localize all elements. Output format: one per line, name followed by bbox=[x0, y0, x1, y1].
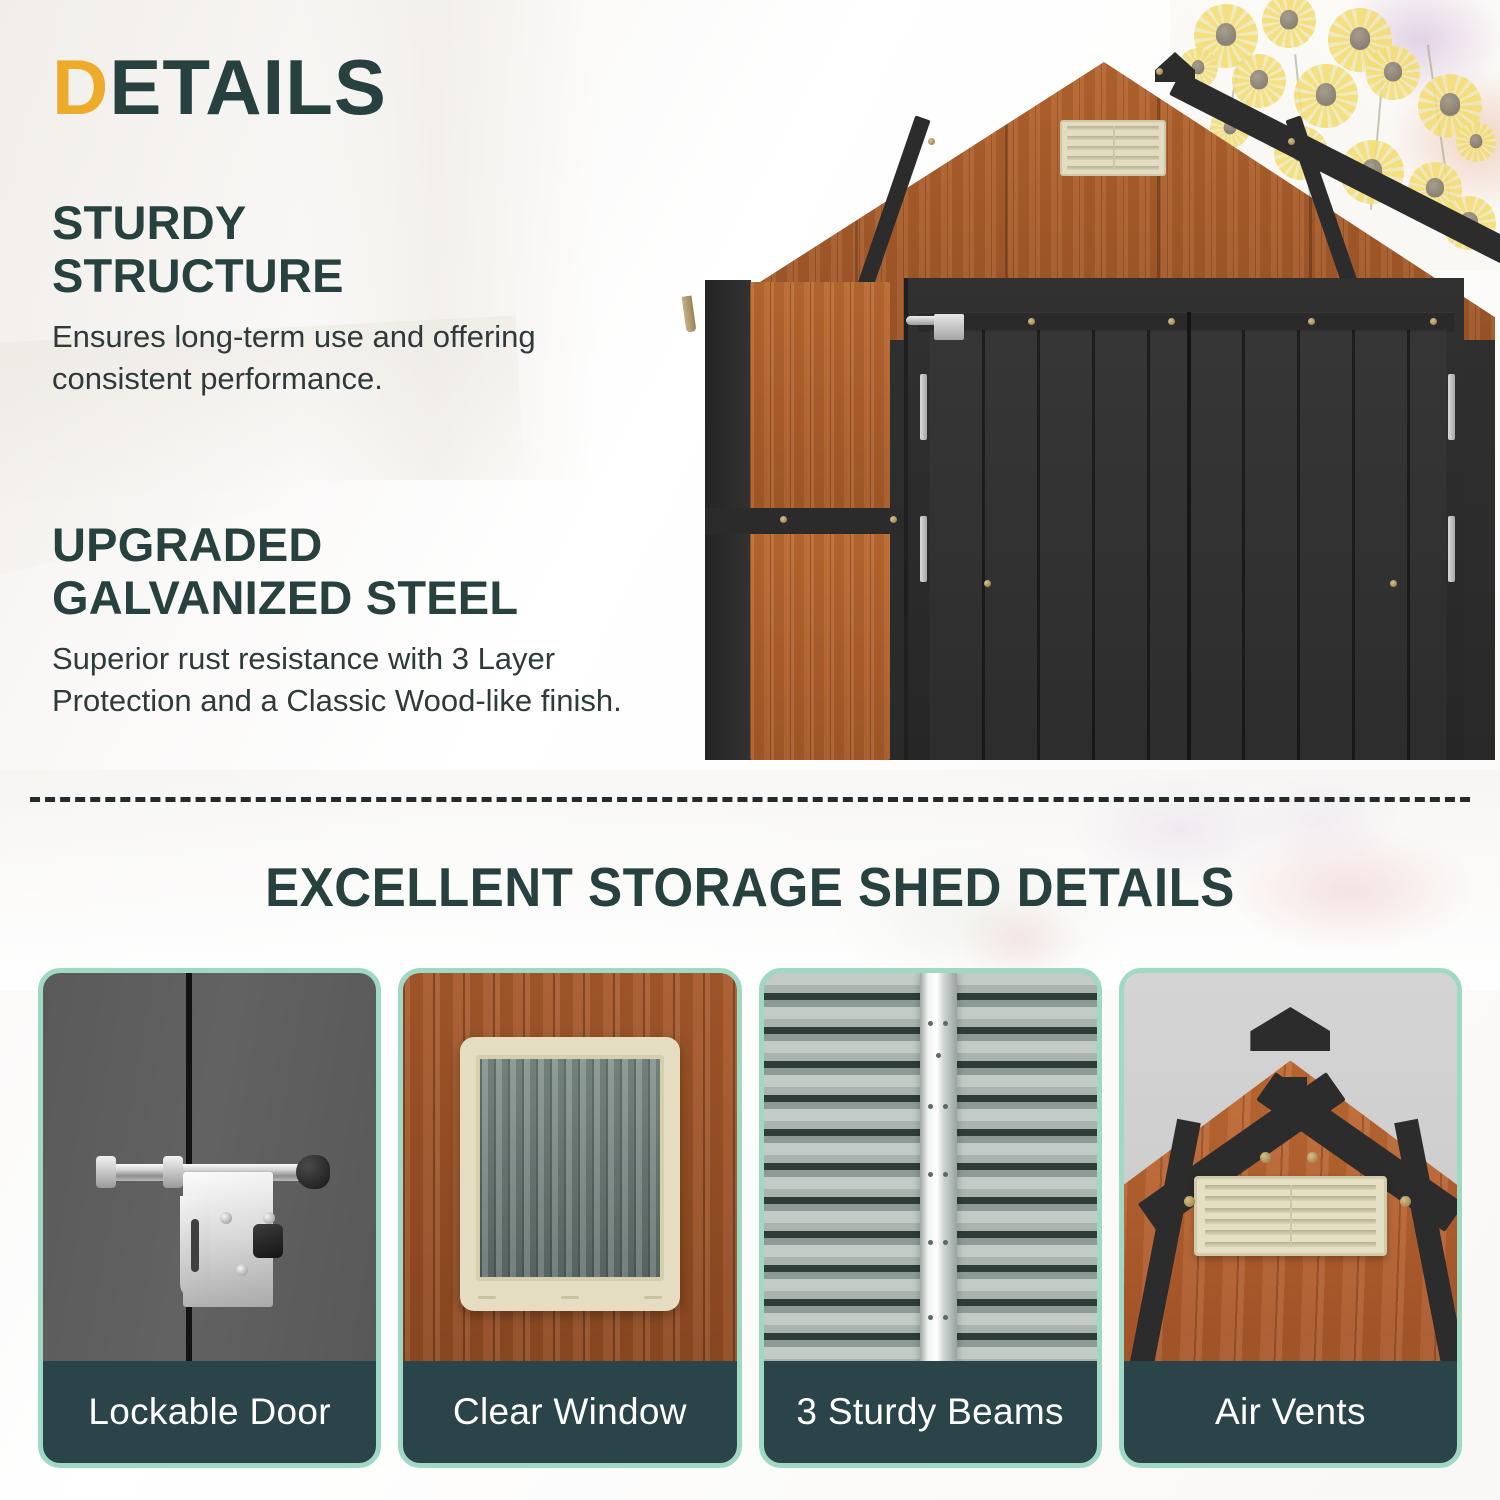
feature-heading: STURDYSTRUCTURE bbox=[52, 196, 672, 302]
brace-bolt-icon bbox=[1156, 68, 1163, 75]
latch-stop-tab bbox=[253, 1224, 283, 1258]
roof-peak-cap bbox=[1155, 52, 1195, 82]
feature-body: Superior rust resistance with 3 Layer Pr… bbox=[52, 638, 672, 722]
rivet-icon bbox=[936, 1053, 941, 1058]
rivet-icon bbox=[943, 1240, 948, 1245]
window-icon bbox=[460, 1037, 680, 1312]
detail-card-lockable-door[interactable]: Lockable Door bbox=[38, 968, 381, 1468]
section-heading: EXCELLENT STORAGE SHED DETAILS bbox=[53, 855, 1448, 919]
card-photo bbox=[403, 973, 736, 1371]
screw-icon bbox=[263, 1212, 275, 1224]
feature-block-galvanized-steel: UPGRADEDGALVANIZED STEEL Superior rust r… bbox=[52, 518, 672, 723]
beam-icon bbox=[920, 973, 957, 1371]
door-slide-bolt-latch-icon[interactable] bbox=[906, 310, 966, 340]
shed-side-wood-panel-lower bbox=[750, 530, 890, 760]
crossbar-bolt-icon bbox=[780, 516, 787, 523]
door-center-seam bbox=[1187, 312, 1191, 760]
card-caption: 3 Sturdy Beams bbox=[764, 1361, 1097, 1463]
door-rivet-icon bbox=[1308, 318, 1315, 325]
eave-bracket-icon bbox=[682, 295, 697, 332]
page-title-rest: ETAILS bbox=[109, 43, 387, 131]
door-right-panel[interactable] bbox=[1190, 330, 1446, 760]
door-hinge-icon bbox=[920, 374, 927, 440]
page-title-accent-letter: D bbox=[52, 43, 109, 131]
card-photo bbox=[43, 973, 376, 1371]
rivet-icon bbox=[928, 1240, 933, 1245]
vent-center-seam bbox=[1290, 1185, 1292, 1247]
section-divider bbox=[30, 797, 1470, 802]
rivet-icon bbox=[928, 1315, 933, 1320]
latch-collar bbox=[96, 1156, 116, 1188]
card-caption: Air Vents bbox=[1124, 1361, 1457, 1463]
door-rivet-icon bbox=[1168, 318, 1175, 325]
card-caption: Clear Window bbox=[403, 1361, 736, 1463]
brace-bolt-icon bbox=[928, 138, 935, 145]
rivet-icon bbox=[928, 1172, 933, 1177]
louver-vent-icon bbox=[1194, 1176, 1387, 1256]
latch-collar bbox=[163, 1156, 183, 1188]
window-sill-mark bbox=[644, 1296, 662, 1299]
padlock-hasp-icon bbox=[180, 1196, 210, 1299]
detail-card-sturdy-beams[interactable]: 3 Sturdy Beams bbox=[759, 968, 1102, 1468]
detail-card-clear-window[interactable]: Clear Window bbox=[398, 968, 741, 1468]
padlock-slot bbox=[191, 1219, 199, 1273]
rivet-icon bbox=[928, 1021, 933, 1026]
screw-icon bbox=[236, 1264, 248, 1276]
screw-icon bbox=[220, 1212, 232, 1224]
crossbar-bolt-icon bbox=[890, 516, 897, 523]
rivet-icon bbox=[943, 1315, 948, 1320]
rivet-icon bbox=[928, 1104, 933, 1109]
feature-heading: UPGRADEDGALVANIZED STEEL bbox=[52, 518, 672, 624]
rivet-icon bbox=[943, 1021, 948, 1026]
screw-icon bbox=[1184, 1196, 1195, 1207]
window-sill-mark bbox=[478, 1296, 496, 1299]
card-photo bbox=[1124, 973, 1457, 1371]
latch-plate bbox=[934, 314, 964, 340]
window-glass-panel bbox=[476, 1055, 664, 1282]
feature-heading-line2: STRUCTURE bbox=[52, 249, 344, 302]
feature-heading-line2: GALVANIZED STEEL bbox=[52, 571, 518, 624]
page-title: DETAILS bbox=[52, 48, 387, 126]
vent-center-seam bbox=[1113, 126, 1115, 170]
detail-cards-row: Lockable Door Clear Window bbox=[38, 968, 1462, 1468]
door-hinge-icon bbox=[1448, 374, 1455, 440]
rivet-icon bbox=[943, 1172, 948, 1177]
brace-bolt-icon bbox=[1288, 138, 1295, 145]
latch-knob-icon bbox=[296, 1155, 330, 1189]
product-detail-infographic: DETAILS STURDYSTRUCTURE Ensures long-ter… bbox=[0, 0, 1500, 1500]
card-caption: Lockable Door bbox=[43, 1361, 376, 1463]
shed-double-doors[interactable] bbox=[904, 278, 1464, 760]
door-rivet-icon bbox=[1028, 318, 1035, 325]
gable-louver-vent-icon bbox=[1060, 120, 1166, 176]
shed-hero-photo bbox=[660, 0, 1500, 760]
detail-card-air-vents[interactable]: Air Vents bbox=[1119, 968, 1462, 1468]
card-photo bbox=[764, 973, 1097, 1371]
door-left-panel[interactable] bbox=[930, 330, 1188, 760]
rivet-icon bbox=[943, 1104, 948, 1109]
window-sill-mark bbox=[561, 1296, 579, 1299]
feature-block-sturdy-structure: STURDYSTRUCTURE Ensures long-term use an… bbox=[52, 196, 672, 401]
door-rivet-icon bbox=[984, 580, 991, 587]
door-rivet-icon bbox=[1390, 580, 1397, 587]
door-hinge-icon bbox=[1448, 516, 1455, 582]
shed-side-wood-panel-upper bbox=[750, 282, 890, 512]
door-hinge-icon bbox=[920, 516, 927, 582]
feature-body: Ensures long-term use and offering consi… bbox=[52, 316, 672, 400]
door-rivet-icon bbox=[1430, 318, 1437, 325]
door-top-rail bbox=[918, 312, 1454, 332]
feature-heading-line1: UPGRADED bbox=[52, 518, 323, 571]
feature-heading-line1: STURDY bbox=[52, 196, 246, 249]
